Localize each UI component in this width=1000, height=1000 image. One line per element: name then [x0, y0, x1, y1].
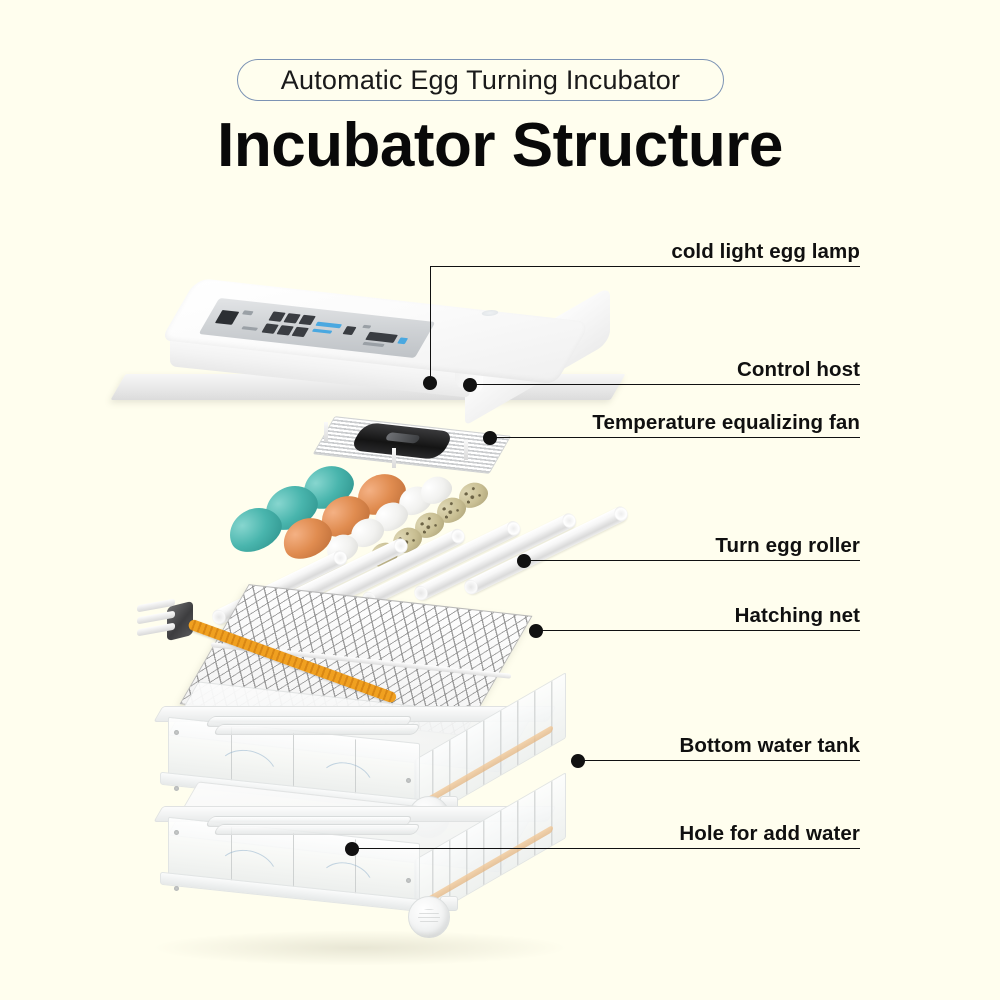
callout-bottom-water-tank: Bottom water tank: [578, 720, 860, 762]
leader-dot: [483, 431, 497, 445]
callout-label: Hole for add water: [679, 822, 860, 846]
leader-line: [352, 848, 860, 849]
leader-line: [430, 266, 860, 267]
leader-dot: [345, 842, 359, 856]
callout-label: cold light egg lamp: [671, 240, 860, 264]
product-illustration: [0, 0, 1000, 1000]
leader-line: [578, 760, 860, 761]
leader-dot: [517, 554, 531, 568]
callout-control-host: Control host: [470, 344, 860, 386]
leader-line-vertical: [430, 266, 431, 381]
callout-label: Bottom water tank: [679, 734, 860, 758]
leader-dot: [423, 376, 437, 390]
leader-dot: [529, 624, 543, 638]
callout-label: Hatching net: [735, 604, 860, 628]
callout-temperature-equalizing-fan: Temperature equalizing fan: [490, 397, 860, 439]
callout-label: Control host: [737, 358, 860, 382]
leader-line: [524, 560, 860, 561]
leader-line: [536, 630, 860, 631]
callout-label: Temperature equalizing fan: [592, 411, 860, 435]
leader-dot: [571, 754, 585, 768]
callout-turn-egg-roller: Turn egg roller: [524, 520, 860, 562]
diagram-canvas: Automatic Egg Turning Incubator Incubato…: [0, 0, 1000, 1000]
leader-line: [490, 437, 860, 438]
leader-line: [470, 384, 860, 385]
leader-dot: [463, 378, 477, 392]
callout-hole-for-add-water: Hole for add water: [352, 808, 860, 850]
callout-hatching-net: Hatching net: [536, 590, 860, 632]
callout-label: Turn egg roller: [715, 534, 860, 558]
callout-cold-light-egg-lamp: cold light egg lamp: [430, 226, 860, 268]
